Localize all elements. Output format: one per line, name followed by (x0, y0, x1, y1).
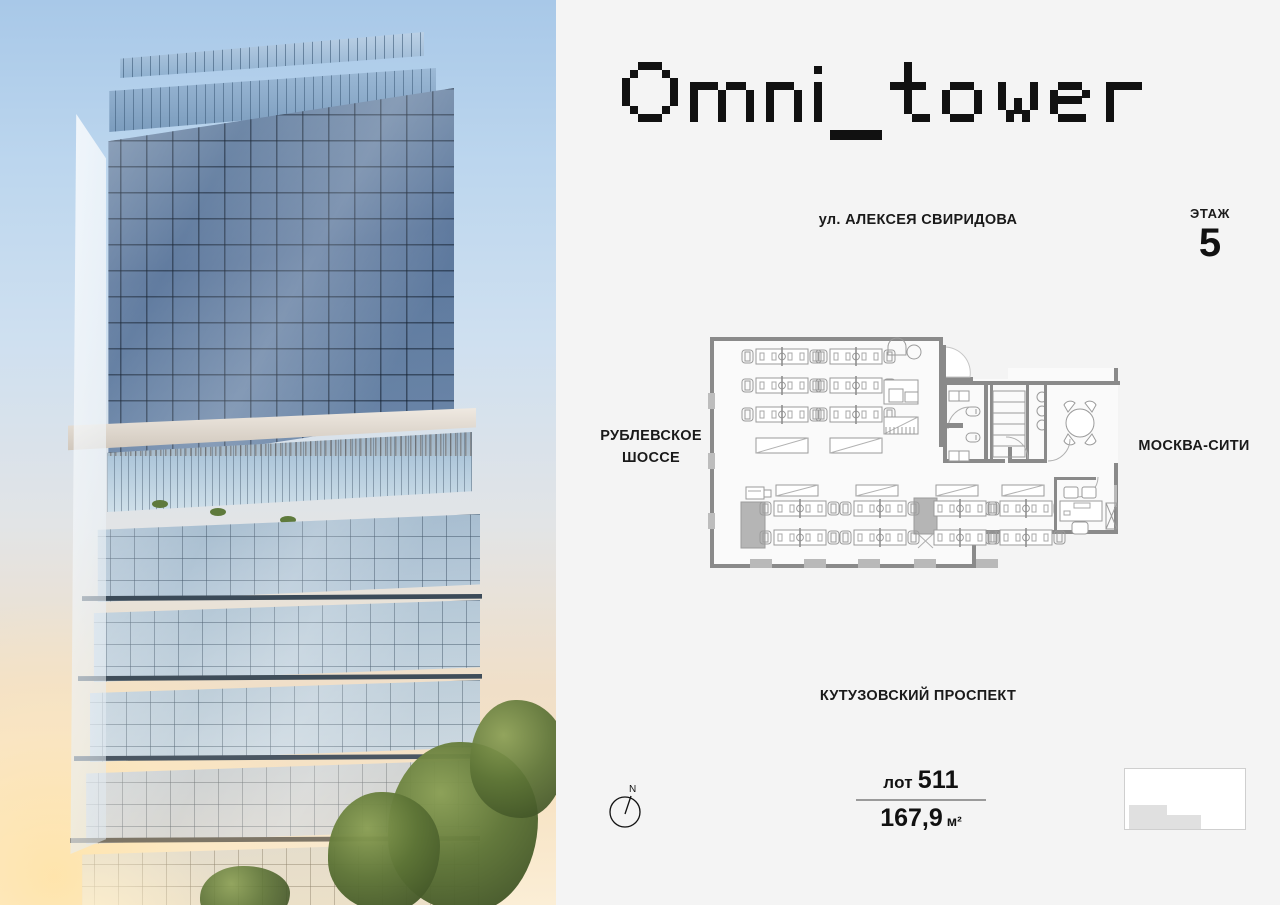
compass-north-label: N (629, 784, 636, 795)
lot-info: лот511 167,9м² (856, 766, 986, 833)
info-panel: ул. АЛЕКСЕЯ СВИРИДОВА ЭТАЖ 5 РУБЛЕВСКОЕ … (556, 0, 1280, 905)
foreground-tree (470, 700, 556, 818)
tower-block-1 (86, 514, 480, 602)
floor-plan[interactable] (708, 335, 1120, 570)
brochure-page: ул. АЛЕКСЕЯ СВИРИДОВА ЭТАЖ 5 РУБЛЕВСКОЕ … (0, 0, 1280, 905)
omni-tower-logo (618, 58, 1218, 158)
meeting-room-round (1044, 385, 1116, 463)
entrance-door (941, 345, 970, 379)
lot-divider (856, 799, 986, 801)
lot-area-value: 167,9 (880, 804, 943, 832)
tower-block-3 (78, 680, 480, 762)
lot-area-unit: м² (947, 813, 962, 829)
lot-line: лот511 (856, 766, 986, 795)
floor-caption: ЭТАЖ (1150, 206, 1270, 221)
block-2-sheen (82, 600, 480, 682)
tower-block-2 (82, 600, 480, 682)
key-plan-minimap (1124, 768, 1246, 830)
crown-mullions (114, 32, 424, 78)
lot-number: 511 (918, 766, 959, 794)
terrace-planter (152, 500, 168, 508)
street-label-left: РУБЛЕВСКОЕ ШОССЕ (576, 425, 726, 470)
tower-upper-block (94, 88, 454, 468)
executive-office (1054, 477, 1117, 534)
compass-rose: N (598, 780, 658, 832)
floor-number: 5 (1150, 224, 1270, 262)
lot-label: лот (883, 773, 912, 792)
tower-crown (114, 32, 424, 78)
street-label-right: МОСКВА-СИТИ (1114, 438, 1274, 454)
lot-area-line: 167,9м² (856, 804, 986, 833)
floor-badge: ЭТАЖ 5 (1150, 206, 1270, 262)
foreground-tree (328, 792, 440, 905)
street-label-left-line2: ШОССЕ (576, 447, 726, 469)
building-render-photo (0, 0, 556, 905)
key-plan-block-lower (1129, 815, 1201, 829)
street-label-left-line1: РУБЛЕВСКОЕ (576, 425, 726, 447)
street-label-bottom: КУТУЗОВСКИЙ ПРОСПЕКТ (556, 688, 1280, 704)
upper-block-sheen (94, 88, 454, 468)
storage-cabinet (741, 502, 765, 548)
block-1-sheen (86, 514, 480, 602)
block-3-sheen (78, 680, 480, 762)
terrace-planter (210, 508, 226, 516)
tower-side-facade (58, 114, 106, 854)
